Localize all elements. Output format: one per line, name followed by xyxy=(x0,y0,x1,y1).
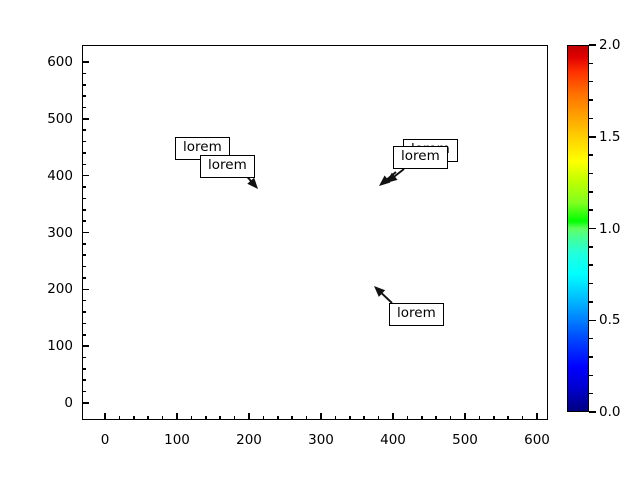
colorbar-minor-tick xyxy=(589,264,593,266)
y-axis-minor-tick xyxy=(82,368,86,370)
x-axis-major-tick xyxy=(248,413,250,420)
colorbar-tick-label: 1.0 xyxy=(599,221,620,237)
annotation-label-box: lorem xyxy=(393,146,448,169)
x-axis-minor-tick xyxy=(479,416,481,420)
y-axis-minor-tick xyxy=(82,186,86,188)
colorbar-tick-label: 2.0 xyxy=(599,37,620,53)
colorbar-minor-tick xyxy=(589,191,593,193)
x-axis-major-tick xyxy=(176,413,178,420)
x-axis-minor-tick xyxy=(435,416,437,420)
colorbar-minor-tick xyxy=(589,393,593,395)
x-axis-tick-label: 100 xyxy=(164,432,190,448)
y-axis-tick-label: 600 xyxy=(47,54,73,70)
colorbar-minor-tick xyxy=(589,63,593,65)
axes-frame xyxy=(82,45,548,420)
y-axis-minor-tick xyxy=(82,198,86,200)
y-axis-major-tick xyxy=(82,175,89,177)
x-axis-minor-tick xyxy=(363,416,365,420)
y-axis-tick-label: 300 xyxy=(47,225,73,241)
x-axis-minor-tick xyxy=(493,416,495,420)
x-axis-minor-tick xyxy=(133,416,135,420)
y-axis-minor-tick xyxy=(82,141,86,143)
y-axis-minor-tick xyxy=(82,300,86,302)
x-axis-minor-tick xyxy=(191,416,193,420)
colorbar-tick-label: 1.5 xyxy=(599,129,620,145)
x-axis-major-tick xyxy=(464,413,466,420)
y-axis-major-tick xyxy=(82,232,89,234)
x-axis-minor-tick xyxy=(147,416,149,420)
x-axis-minor-tick xyxy=(378,416,380,420)
x-axis-major-tick xyxy=(392,413,394,420)
y-axis-minor-tick xyxy=(82,73,86,75)
y-axis-minor-tick xyxy=(82,311,86,313)
x-axis-minor-tick xyxy=(234,416,236,420)
annotation-label-box: lorem xyxy=(389,303,444,326)
annotation-label-box: lorem xyxy=(200,155,255,178)
colorbar-minor-tick xyxy=(589,246,593,248)
x-axis-minor-tick xyxy=(277,416,279,420)
y-axis-minor-tick xyxy=(82,243,86,245)
x-axis-tick-label: 300 xyxy=(308,432,334,448)
x-axis-minor-tick xyxy=(407,416,409,420)
colorbar-major-tick xyxy=(589,136,596,138)
y-axis-minor-tick xyxy=(82,357,86,359)
y-axis-tick-label: 100 xyxy=(47,338,73,354)
colorbar xyxy=(567,45,589,412)
x-axis-minor-tick xyxy=(162,416,164,420)
y-axis-major-tick xyxy=(82,402,89,404)
colorbar-major-tick xyxy=(589,320,596,322)
y-axis-minor-tick xyxy=(82,277,86,279)
y-axis-tick-label: 200 xyxy=(47,281,73,297)
x-axis-tick-label: 400 xyxy=(380,432,406,448)
colorbar-minor-tick xyxy=(589,154,593,156)
x-axis-minor-tick xyxy=(219,416,221,420)
figure-root: 01002003004005006000100200300400500600 0… xyxy=(0,0,640,480)
colorbar-minor-tick xyxy=(589,301,593,303)
x-axis-tick-label: 200 xyxy=(236,432,262,448)
x-axis-tick-label: 0 xyxy=(101,432,110,448)
y-axis-minor-tick xyxy=(82,254,86,256)
y-axis-minor-tick xyxy=(82,209,86,211)
x-axis-tick-label: 500 xyxy=(452,432,478,448)
x-axis-minor-tick xyxy=(205,416,207,420)
x-axis-minor-tick xyxy=(507,416,509,420)
y-axis-minor-tick xyxy=(82,266,86,268)
colorbar-tick-label: 0.0 xyxy=(599,404,620,420)
x-axis-minor-tick xyxy=(291,416,293,420)
y-axis-major-tick xyxy=(82,118,89,120)
y-axis-tick-label: 500 xyxy=(47,111,73,127)
y-axis-minor-tick xyxy=(82,164,86,166)
colorbar-gradient xyxy=(568,46,588,411)
x-axis-major-tick xyxy=(320,413,322,420)
y-axis-tick-label: 400 xyxy=(47,168,73,184)
colorbar-minor-tick xyxy=(589,118,593,120)
colorbar-major-tick xyxy=(589,411,596,413)
colorbar-minor-tick xyxy=(589,99,593,101)
colorbar-minor-tick xyxy=(589,356,593,358)
y-axis-minor-tick xyxy=(82,107,86,109)
x-axis-minor-tick xyxy=(349,416,351,420)
y-axis-minor-tick xyxy=(82,95,86,97)
y-axis-minor-tick xyxy=(82,129,86,131)
y-axis-minor-tick xyxy=(82,152,86,154)
x-axis-minor-tick xyxy=(335,416,337,420)
x-axis-minor-tick xyxy=(421,416,423,420)
x-axis-tick-label: 600 xyxy=(524,432,550,448)
colorbar-major-tick xyxy=(589,44,596,46)
x-axis-minor-tick xyxy=(306,416,308,420)
y-axis-minor-tick xyxy=(82,379,86,381)
colorbar-minor-tick xyxy=(589,375,593,377)
colorbar-minor-tick xyxy=(589,81,593,83)
y-axis-tick-label: 0 xyxy=(64,395,73,411)
colorbar-minor-tick xyxy=(589,338,593,340)
x-axis-minor-tick xyxy=(450,416,452,420)
colorbar-tick-label: 0.5 xyxy=(599,312,620,328)
x-axis-major-tick xyxy=(536,413,538,420)
y-axis-minor-tick xyxy=(82,323,86,325)
y-axis-major-tick xyxy=(82,61,89,63)
colorbar-minor-tick xyxy=(589,283,593,285)
y-axis-minor-tick xyxy=(82,84,86,86)
colorbar-major-tick xyxy=(589,228,596,230)
y-axis-minor-tick xyxy=(82,220,86,222)
x-axis-minor-tick xyxy=(522,416,524,420)
colorbar-minor-tick xyxy=(589,173,593,175)
x-axis-minor-tick xyxy=(119,416,121,420)
x-axis-minor-tick xyxy=(263,416,265,420)
y-axis-major-tick xyxy=(82,345,89,347)
colorbar-minor-tick xyxy=(589,209,593,211)
y-axis-minor-tick xyxy=(82,334,86,336)
x-axis-major-tick xyxy=(104,413,106,420)
y-axis-minor-tick xyxy=(82,391,86,393)
y-axis-major-tick xyxy=(82,289,89,291)
